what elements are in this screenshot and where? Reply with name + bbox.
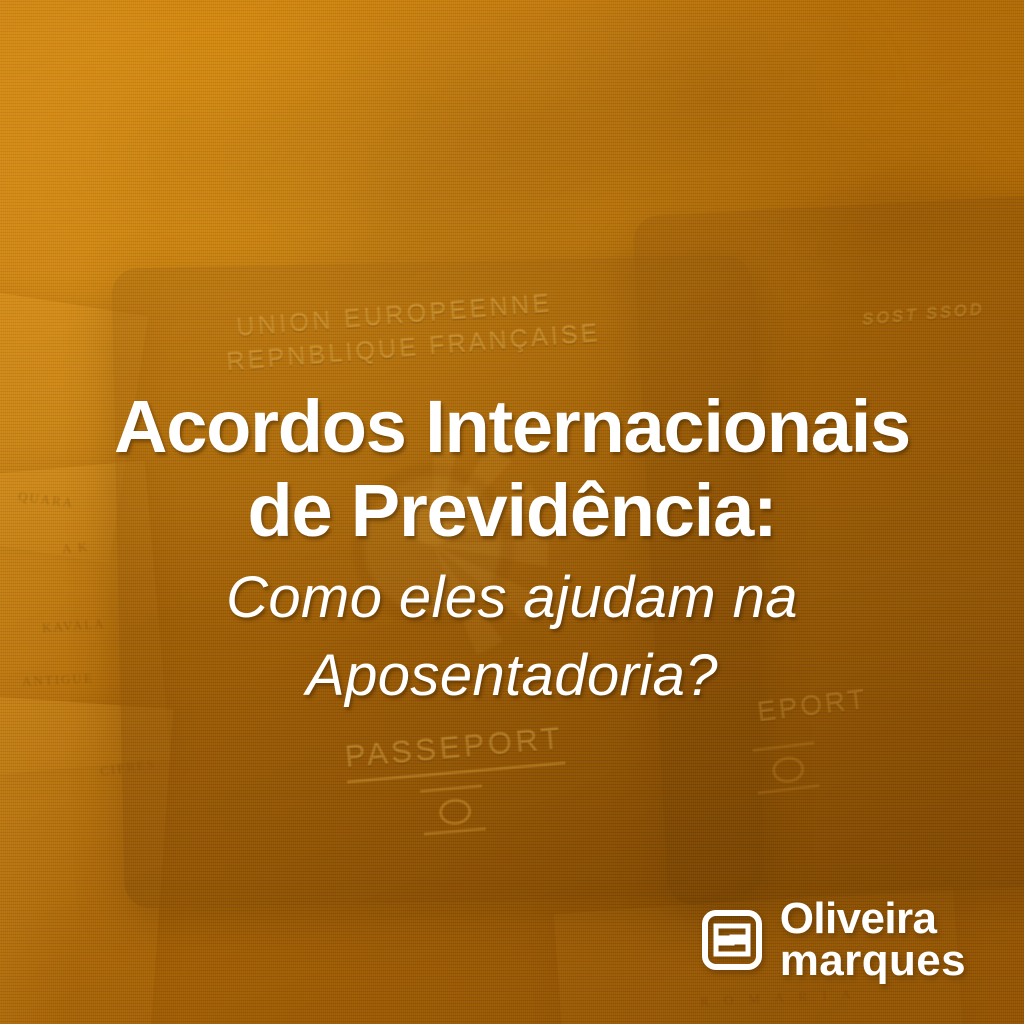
logo-word-oliveira: Oliveira — [780, 898, 966, 940]
headline-line-1: Acordos Internacionais — [0, 385, 1024, 469]
subtitle-block: Como eles ajudam na Aposentadoria? — [0, 559, 1024, 715]
brand-logo: Oliveira marques — [702, 898, 966, 982]
social-media-card: A K KAVALA ANTIGUE CIPRES QUARA R O M A … — [0, 0, 1024, 1024]
logo-word-marques: marques — [780, 940, 966, 982]
headline-line-2: de Previdência: — [0, 469, 1024, 553]
logo-wordmark: Oliveira marques — [780, 898, 966, 982]
subtitle-line-1: Como eles ajudam na — [0, 559, 1024, 637]
subtitle-line-2: Aposentadoria? — [0, 637, 1024, 715]
oliveira-marques-monogram-icon — [702, 910, 762, 970]
headline-block: Acordos Internacionais de Previdência: C… — [0, 385, 1024, 715]
